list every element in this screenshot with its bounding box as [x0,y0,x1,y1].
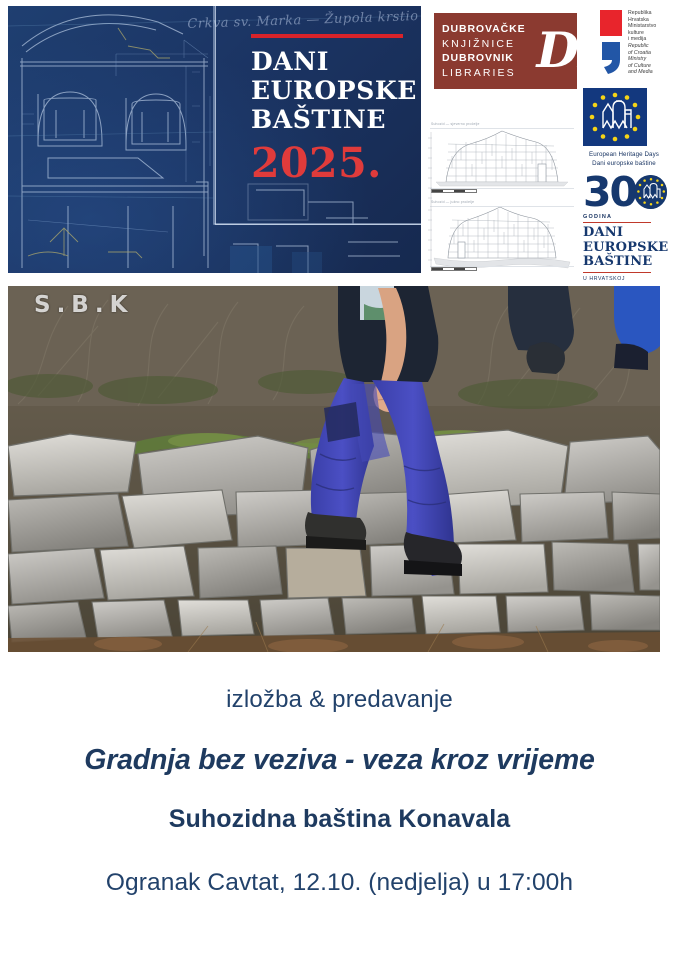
anniversary-title-line-1: DANI [583,226,667,241]
deh-title-line-1: DANI [251,47,406,76]
dry-stone-elevation-icon-a [428,120,576,194]
ministry-line-5: i medija [628,36,678,43]
anniversary-title-line-2: EUROPSKE [583,241,667,256]
dk-line-2: KNJIŽNICE [442,37,525,52]
ehd-caption-hr: Dani europske baštine [583,159,665,168]
technical-drawing-top: Suhozid — sjeverno pročelje [428,120,576,194]
technical-drawings-panel: Suhozid — sjeverno pročelje Suhozid — [428,120,576,274]
ministry-line-6: Republic [628,43,678,50]
anniversary-roundel-svg [634,175,667,209]
photo-illustration [8,286,660,652]
anniversary-rule-2 [583,272,651,273]
drawing-label-top: Suhozid — sjeverno pročelje [431,122,480,126]
anniversary-mark: 30 [583,172,667,212]
deh-title-block: DANI EUROPSKE BAŠTINE 2025. [251,34,406,185]
ministry-line-3: Ministarstvo [628,23,678,30]
dk-monogram: DK [536,26,577,75]
deh-year: 2025. [251,141,406,185]
dry-stone-wall-photo: S.B.K [8,286,660,652]
drawing-scale-bar-b [431,267,477,272]
anniversary-rule [583,222,651,223]
anniversary-title-line-3: BAŠTINE [583,255,667,270]
photo-watermark: S.B.K [34,292,133,318]
anniversary-number: 30 [583,172,636,212]
deh-title-line-2: EUROPSKE [251,76,406,105]
dubrovnik-libraries-logo: DUBROVAČKE KNJIŽNICE DUBROVNIK LIBRARIES… [434,13,577,89]
deh-rule-top [251,34,403,38]
ministry-line-10: and Media [628,69,678,76]
ehd-caption-en: European Heritage Days [583,150,665,159]
ministry-line-9: of Culture [628,63,678,70]
ministry-line-8: Ministry [628,56,678,63]
anniversary-title: DANI EUROPSKE BAŠTINE [583,226,667,270]
dk-line-3: DUBROVNIK [442,51,525,66]
ministry-line-4: kulture [628,30,678,37]
anniversary-eu-roundel-icon [634,175,667,209]
dk-logo-wordmark: DUBROVAČKE KNJIŽNICE DUBROVNIK LIBRARIES [434,22,525,80]
drawing-label-bottom: Suhozid — južno pročelje [431,200,474,204]
ministry-line-2: Hrvatska [628,17,678,24]
event-kicker: izložba & predavanje [0,686,679,714]
dk-line-4: LIBRARIES [442,66,525,81]
ministry-of-culture-logo: Republika Hrvatska Ministarstvo kulture … [600,8,679,80]
blueprint-panel: Crkva sv. Marka — Župola krstionice Nova… [8,6,421,273]
drawing-scale-bar-a [431,189,477,194]
croatia-mark-icon [600,10,624,74]
drawing-top-rule-b [430,206,574,207]
ehd-captions: European Heritage Days Dani europske baš… [583,150,665,168]
deh-title-line-3: BAŠTINE [251,105,406,134]
croatia-blue-comma-icon [600,42,622,74]
event-subtitle: Suhozidna baština Konavala [0,805,679,834]
anniversary-country: U HRVATSKOJ [583,276,667,282]
anniversary-30-logo: 30 [583,172,667,282]
ministry-text: Republika Hrvatska Ministarstvo kulture … [628,10,678,76]
ministry-line-7: of Croatia [628,50,678,57]
drawing-top-rule-a [430,128,574,129]
croatia-red-square-icon [600,10,622,36]
poster-root: Crkva sv. Marka — Župola krstionice Nova… [0,0,679,960]
eu-stars-flag-icon [583,88,647,146]
technical-drawing-bottom: Suhozid — južno pročelje [428,198,576,272]
european-heritage-days-logo [583,88,647,153]
eu-flag-svg [583,88,647,146]
header-band: Crkva sv. Marka — Župola krstionice Nova… [0,0,679,278]
event-details: izložba & predavanje Gradnja bez veziva … [0,660,679,960]
dk-line-1: DUBROVAČKE [442,22,525,37]
dry-stone-elevation-icon-b [428,198,576,272]
deh-title: DANI EUROPSKE BAŠTINE [251,47,406,134]
drawing-axis-ticks-icon [426,130,433,270]
ministry-line-1: Republika [628,10,678,17]
event-when-where: Ogranak Cavtat, 12.10. (nedjelja) u 17:0… [0,869,679,897]
event-title: Gradnja bez veziva - veza kroz vrijeme [0,744,679,777]
